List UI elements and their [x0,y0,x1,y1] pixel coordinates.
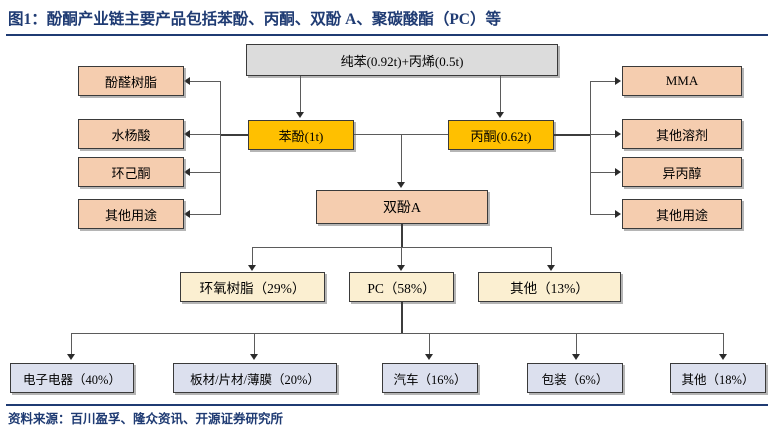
edge-acetone-right-trunk [590,81,591,214]
edge-phenol-phenolic-resin [190,81,221,82]
node-epoxy-resin: 环氧树脂（29%） [180,272,325,302]
edge-bpa-pc-arrow [397,265,405,271]
edge-bpa-trunk [401,224,403,248]
node-cyclohexanone: 环己酮 [78,157,184,187]
node-pc: PC（58%） [349,272,454,302]
node-pc-other-label: 其他（18%） [682,369,755,388]
edge-bpa-feed-vertical [401,134,402,183]
edge-pc-trunk [401,302,403,334]
edge-phenol-other-use [190,214,221,215]
edge-feedstock-phenol-vertical [300,76,301,113]
node-phenol-other-use-label: 其他用途 [105,205,157,224]
node-packaging: 包装（6%） [527,363,623,393]
edge-bpa-other-drop [551,247,552,266]
node-automotive: 汽车（16%） [382,363,478,393]
node-pc-label: PC（58%） [367,277,435,297]
edge-acetone-mma [590,81,616,82]
edge-phenol-cyclohexanone-arrow [184,168,190,176]
edge-acetone-isopropanol-arrow [615,168,621,176]
edge-pc-packaging-arrow [572,354,580,360]
edge-phenol-left-trunk [220,81,221,214]
edge-pc-automotive-drop [429,333,430,355]
node-automotive-label: 汽车（16%） [394,369,467,388]
edge-pc-electronics-arrow [67,354,75,360]
edge-pc-packaging-drop [576,333,577,355]
edge-bpa-epoxy-drop [252,247,253,266]
node-acetone-other-use-label: 其他用途 [656,205,708,224]
edge-phenol-left-stem [220,134,249,136]
edge-bpa-feed-arrow [397,182,405,188]
title-divider [6,34,768,36]
edge-feedstock-phenol-arrow [296,112,304,118]
node-acetone: 丙酮(0.62t) [448,120,554,150]
edge-pc-sheet-film-arrow [250,354,258,360]
edge-bpa-epoxy-arrow [248,265,256,271]
edge-acetone-other-use [590,214,616,215]
edge-bpa-bus [252,247,552,248]
node-salicylic-acid: 水杨酸 [78,119,184,149]
node-phenolic-resin: 酚醛树脂 [78,66,184,96]
node-isopropanol-label: 异丙醇 [662,163,701,182]
node-other-solvent: 其他溶剂 [622,119,742,149]
edge-acetone-other-use-arrow [615,210,621,218]
node-epoxy-resin-label: 环氧树脂（29%） [200,277,306,297]
node-mma: MMA [622,66,742,96]
source-divider [6,404,768,406]
node-acetone-label: 丙酮(0.62t) [470,126,531,145]
node-electronics-label: 电子电器（40%） [23,369,121,388]
node-pc-other: 其他（18%） [670,363,766,393]
node-isopropanol: 异丙醇 [622,157,742,187]
edge-pc-automotive-arrow [425,354,433,360]
edge-phenol-phenolic-resin-arrow [184,77,190,85]
node-other-solvent-label: 其他溶剂 [656,125,708,144]
edge-pc-sheet-film-drop [254,333,255,355]
edge-feedstock-acetone-arrow [496,112,504,118]
node-phenolic-resin-label: 酚醛树脂 [105,72,157,91]
edge-bpa-other-arrow [547,265,555,271]
source-note: 资料来源：百川盈孚、隆众资讯、开源证券研究所 [8,408,708,430]
edge-acetone-isopropanol [590,172,616,173]
edge-pc-electronics-drop [71,333,72,355]
edge-acetone-mma-arrow [615,77,621,85]
node-bpa-label: 双酚A [383,197,421,217]
edge-acetone-right-stem [554,134,590,136]
node-acetone-other-use: 其他用途 [622,199,742,229]
node-sheet-film: 板材/片材/薄膜（20%） [173,363,337,393]
node-electronics: 电子电器（40%） [10,363,134,393]
edge-bpa-pc-drop [401,247,402,266]
edge-pc-other-arrow [719,354,727,360]
node-sheet-film-label: 板材/片材/薄膜（20%） [190,369,320,388]
node-bpa-other-label: 其他（13%） [510,277,589,297]
node-feedstock: 纯苯(0.92t)+丙烯(0.5t) [246,44,558,76]
edge-phenol-salicylic-acid-arrow [184,130,190,138]
edge-acetone-other-solvent-arrow [615,130,621,138]
edge-phenol-cyclohexanone [190,172,221,173]
node-salicylic-acid-label: 水杨酸 [111,125,150,144]
edge-phenol-salicylic-acid [190,134,221,135]
node-bpa: 双酚A [316,190,488,224]
node-mma-label: MMA [666,73,699,89]
node-phenol: 苯酚(1t) [248,120,354,150]
edge-acetone-other-solvent [590,134,616,135]
figure-title: 图1：酚酮产业链主要产品包括苯酚、丙酮、双酚 A、聚碳酸酯（PC）等 [8,8,768,32]
node-feedstock-label: 纯苯(0.92t)+丙烯(0.5t) [341,51,464,70]
edge-pc-bus [71,333,723,334]
edge-feedstock-acetone-vertical [500,76,501,113]
node-phenol-other-use: 其他用途 [78,199,184,229]
edge-pc-other-drop [723,333,724,355]
edge-phenol-other-use-arrow [184,210,190,218]
node-bpa-other: 其他（13%） [478,272,621,302]
node-cyclohexanone-label: 环己酮 [111,163,150,182]
node-phenol-label: 苯酚(1t) [279,126,324,145]
node-packaging-label: 包装（6%） [542,369,609,388]
figure-canvas: 图1：酚酮产业链主要产品包括苯酚、丙酮、双酚 A、聚碳酸酯（PC）等 纯苯(0.… [0,0,774,436]
